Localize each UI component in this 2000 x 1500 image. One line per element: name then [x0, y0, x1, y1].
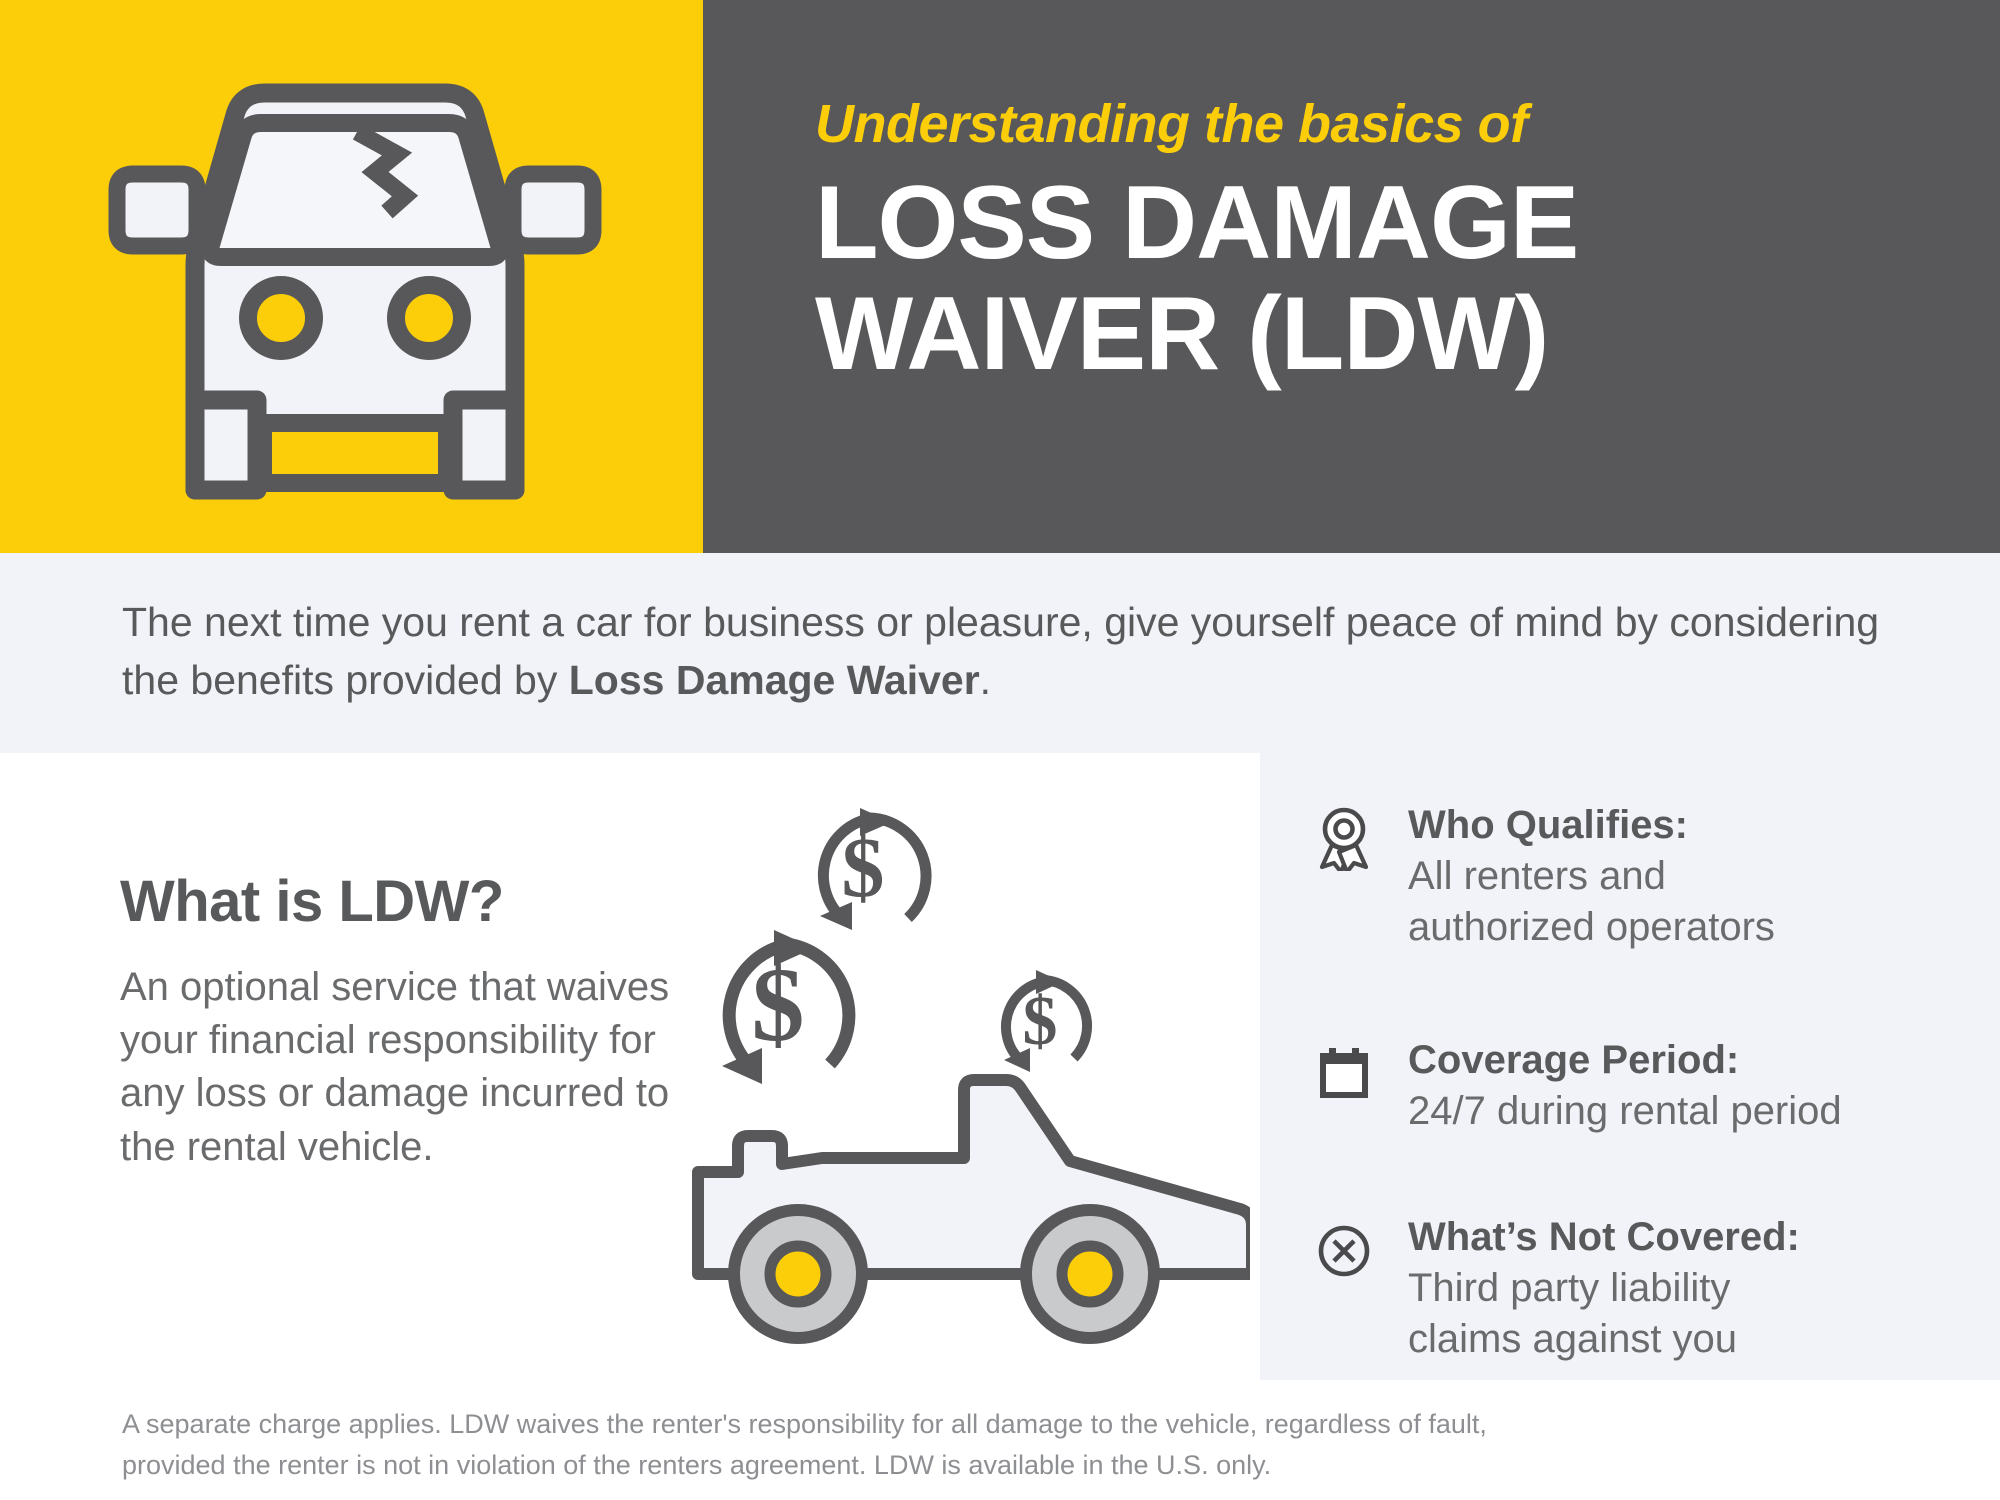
intro-paragraph: The next time you rent a car for busines…	[122, 593, 1912, 709]
what-is-ldw-body: An optional service that waives your fin…	[120, 961, 680, 1174]
side-item-text: What’s Not Covered: Third party liabilit…	[1408, 1213, 1972, 1363]
money-cycle-and-pickup-truck-illustration: $ $ $	[690, 788, 1250, 1348]
dollar-refresh-icon: $	[722, 930, 849, 1084]
intro-text-after: .	[980, 657, 991, 703]
circle-x-icon	[1312, 1219, 1376, 1283]
header-title-line2: WAIVER (LDW)	[815, 279, 1915, 389]
side-item-body-line1: Third party liability	[1408, 1265, 1972, 1312]
side-item-coverage-period: Coverage Period: 24/7 during rental peri…	[1312, 1036, 1972, 1135]
footer-disclaimer: A separate charge applies. LDW waives th…	[122, 1404, 1902, 1485]
side-panel: Who Qualifies: All renters and authorize…	[1260, 753, 2000, 1380]
calendar-icon	[1312, 1042, 1376, 1106]
side-item-text: Coverage Period: 24/7 during rental peri…	[1408, 1036, 1972, 1135]
intro-text-before: The next time you rent a car for busines…	[122, 599, 1879, 703]
infographic-page: Understanding the basics of LOSS DAMAGE …	[0, 0, 2000, 1500]
footer-line2: provided the renter is not in violation …	[122, 1445, 1902, 1486]
damaged-car-front-icon	[95, 60, 615, 500]
dollar-refresh-icon: $	[1004, 970, 1087, 1072]
intro-band: The next time you rent a car for busines…	[0, 553, 2000, 753]
header: Understanding the basics of LOSS DAMAGE …	[0, 0, 2000, 553]
side-item-title: What’s Not Covered:	[1408, 1213, 1972, 1261]
side-item-body-line2: claims against you	[1408, 1316, 1972, 1363]
main-content: What is LDW? An optional service that wa…	[0, 753, 2000, 1380]
side-item-whats-not-covered: What’s Not Covered: Third party liabilit…	[1312, 1213, 1972, 1363]
svg-text:$: $	[752, 946, 805, 1063]
award-ribbon-icon	[1312, 807, 1376, 871]
header-title: LOSS DAMAGE WAIVER (LDW)	[815, 168, 1915, 388]
footer: A separate charge applies. LDW waives th…	[0, 1380, 2000, 1500]
side-item-body-line2: authorized operators	[1408, 904, 1972, 951]
side-item-text: Who Qualifies: All renters and authorize…	[1408, 801, 1972, 951]
svg-text:$: $	[842, 819, 885, 915]
what-is-ldw-block: What is LDW? An optional service that wa…	[120, 868, 680, 1174]
side-item-title: Coverage Period:	[1408, 1036, 1972, 1084]
side-item-body-line1: All renters and	[1408, 853, 1972, 900]
dollar-refresh-icon: $	[820, 808, 926, 930]
svg-text:$: $	[1023, 983, 1058, 1060]
intro-emphasis: Loss Damage Waiver	[569, 657, 980, 703]
side-item-body-line1: 24/7 during rental period	[1408, 1088, 1972, 1135]
pickup-truck-icon	[698, 1080, 1250, 1338]
header-text-group: Understanding the basics of LOSS DAMAGE …	[815, 95, 1915, 389]
footer-line1: A separate charge applies. LDW waives th…	[122, 1404, 1902, 1445]
header-eyebrow: Understanding the basics of	[815, 95, 1915, 154]
side-item-title: Who Qualifies:	[1408, 801, 1972, 849]
header-title-line1: LOSS DAMAGE	[815, 168, 1915, 278]
what-is-ldw-heading: What is LDW?	[120, 868, 680, 935]
side-item-who-qualifies: Who Qualifies: All renters and authorize…	[1312, 801, 1972, 951]
